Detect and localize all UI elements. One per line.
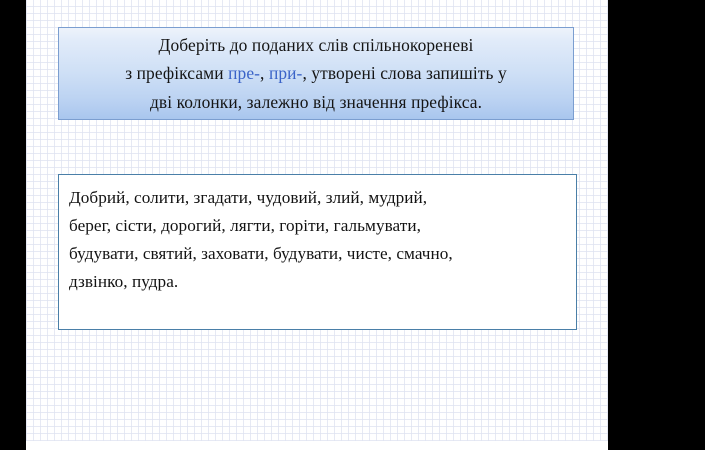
slide-bottom-strip [26, 441, 608, 450]
instruction-box: Доберіть до поданих слів спільнокореневі… [58, 27, 574, 120]
letterbox-bar-right [608, 0, 705, 450]
slide-screen: Доберіть до поданих слів спільнокореневі… [0, 0, 705, 450]
word-list-box: Добрий, солити, згадати, чудовий, злий, … [58, 174, 577, 330]
word-list-text: Добрий, солити, згадати, чудовий, злий, … [69, 184, 566, 296]
instruction-text: Доберіть до поданих слів спільнокореневі… [59, 31, 573, 116]
slide-canvas: Доберіть до поданих слів спільнокореневі… [26, 0, 608, 441]
instruction-line-2-part-1: з префіксами [125, 63, 228, 83]
instruction-line-2-part-2: , утворені слова запишіть у [302, 63, 506, 83]
instruction-line-2-separator: , [260, 63, 269, 83]
prefix-pre-highlight: пре- [228, 63, 260, 83]
instruction-line-3: дві колонки, залежно від значення префік… [150, 92, 482, 112]
instruction-line-1: Доберіть до поданих слів спільнокореневі [159, 35, 474, 55]
letterbox-bar-left [0, 0, 26, 450]
prefix-pry-highlight: при- [269, 63, 303, 83]
